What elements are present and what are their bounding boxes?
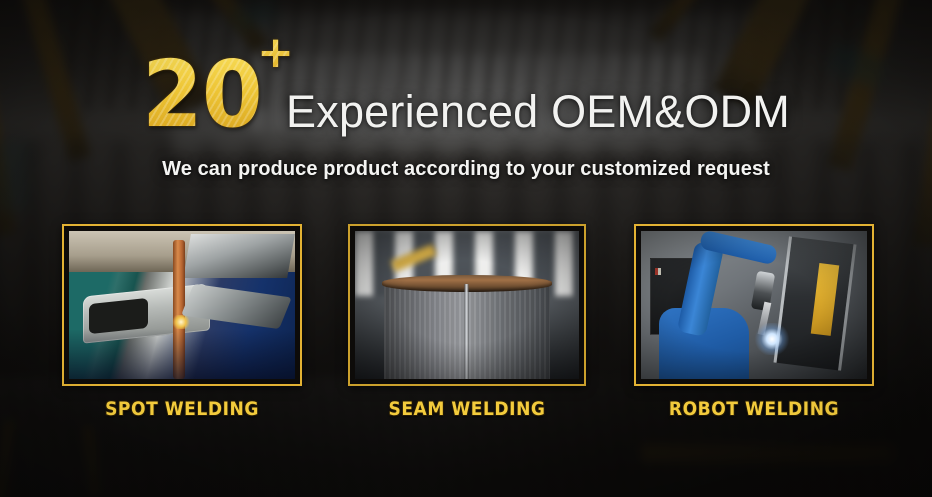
caption-spot-welding: SPOT WELDING [74, 396, 290, 422]
years-plus-symbol: + [257, 31, 294, 75]
welding-cards-row [0, 224, 932, 386]
spot-welding-photo [69, 231, 295, 379]
spot-welding-weld-spark [171, 315, 191, 328]
seam-welding-photo-shadow [355, 231, 579, 379]
caption-seam-welding: SEAM WELDING [360, 396, 574, 422]
spot-welding-tool-head [183, 234, 295, 278]
years-badge: 20 + [142, 53, 268, 138]
robot-welding-photo [641, 231, 867, 379]
spot-welding-photo-shadow [69, 329, 295, 379]
robot-welding-photo-shadow [641, 231, 867, 379]
banner-content: 20 + Experienced OEM&ODM We can produce … [0, 0, 932, 497]
welding-captions-row: SPOT WELDING SEAM WELDING ROBOT WELDING [0, 396, 932, 426]
headline-row: 20 + Experienced OEM&ODM [0, 42, 932, 138]
headline-title: Experienced OEM&ODM [286, 89, 790, 138]
subtitle-text: We can produce product according to your… [0, 158, 932, 181]
promo-banner: 20 + Experienced OEM&ODM We can produce … [0, 0, 932, 497]
card-seam-welding[interactable] [348, 224, 586, 386]
seam-welding-photo [355, 231, 579, 379]
card-spot-welding[interactable] [62, 224, 302, 386]
years-number: 20 [142, 53, 262, 138]
caption-robot-welding: ROBOT WELDING [646, 396, 862, 422]
card-robot-welding[interactable] [634, 224, 874, 386]
